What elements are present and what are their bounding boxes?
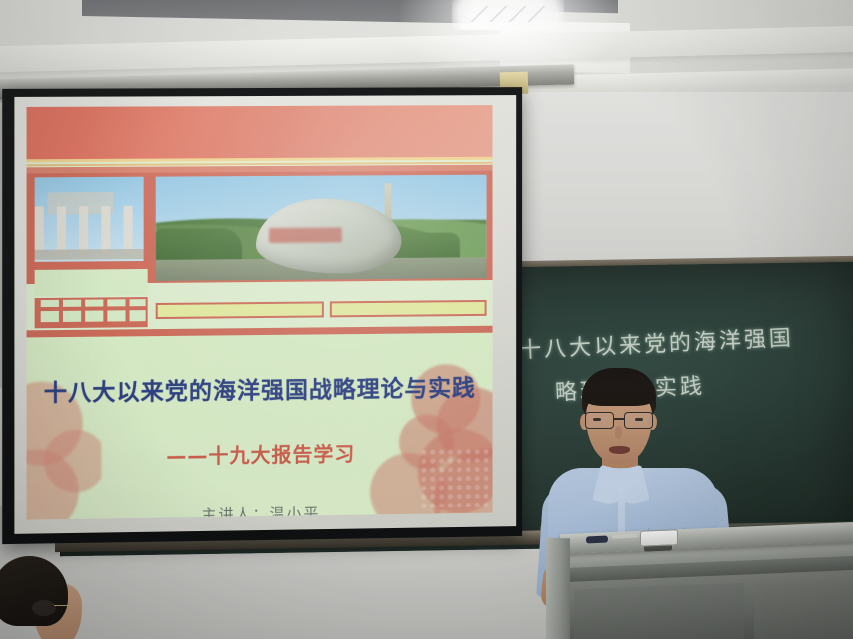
light-diffuser	[470, 6, 546, 22]
slide-title: 十八大以来党的海洋强国战略理论与实践	[27, 368, 493, 407]
slide-photo-colonnade	[35, 177, 144, 262]
slide-header-band	[27, 105, 493, 159]
speaker-nose	[615, 426, 622, 439]
slide-lattice-pattern	[35, 297, 148, 328]
slide-photo-banner	[27, 171, 493, 284]
chalk-line-1: 十八大以来党的海洋强国	[519, 326, 795, 363]
podium-panel-left	[574, 583, 744, 639]
slide-accent-bar-right	[330, 300, 487, 317]
slide-photo-stone	[156, 175, 487, 281]
projection-screen-surface: 十八大以来党的海洋强国战略理论与实践 ——十九大报告学习 主讲人：温小平	[14, 95, 516, 534]
speaker-mouth	[609, 446, 630, 454]
projection-screen: 十八大以来党的海洋强国战略理论与实践 ——十九大报告学习 主讲人：温小平	[2, 87, 522, 544]
podium-side	[546, 538, 570, 639]
podium-panel-right	[754, 580, 853, 639]
phone-icon[interactable]	[640, 529, 678, 547]
slide-green-strip	[35, 269, 148, 296]
audience-member	[0, 556, 112, 639]
presentation-slide: 十八大以来党的海洋强国战略理论与实践 ——十九大报告学习 主讲人：温小平	[27, 105, 493, 519]
audience-hair	[0, 556, 68, 626]
speaker-hair-fringe	[583, 380, 655, 406]
audience-glasses-icon	[32, 600, 76, 614]
slide-body: 十八大以来党的海洋强国战略理论与实践 ——十九大报告学习 主讲人：温小平	[27, 333, 493, 520]
podium[interactable]	[548, 528, 853, 639]
slide-accent-bar-left	[156, 301, 324, 319]
classroom-scene: 十八大以来党的海洋强国 略理论与实践	[0, 0, 853, 639]
marker-icon[interactable]	[586, 536, 608, 544]
